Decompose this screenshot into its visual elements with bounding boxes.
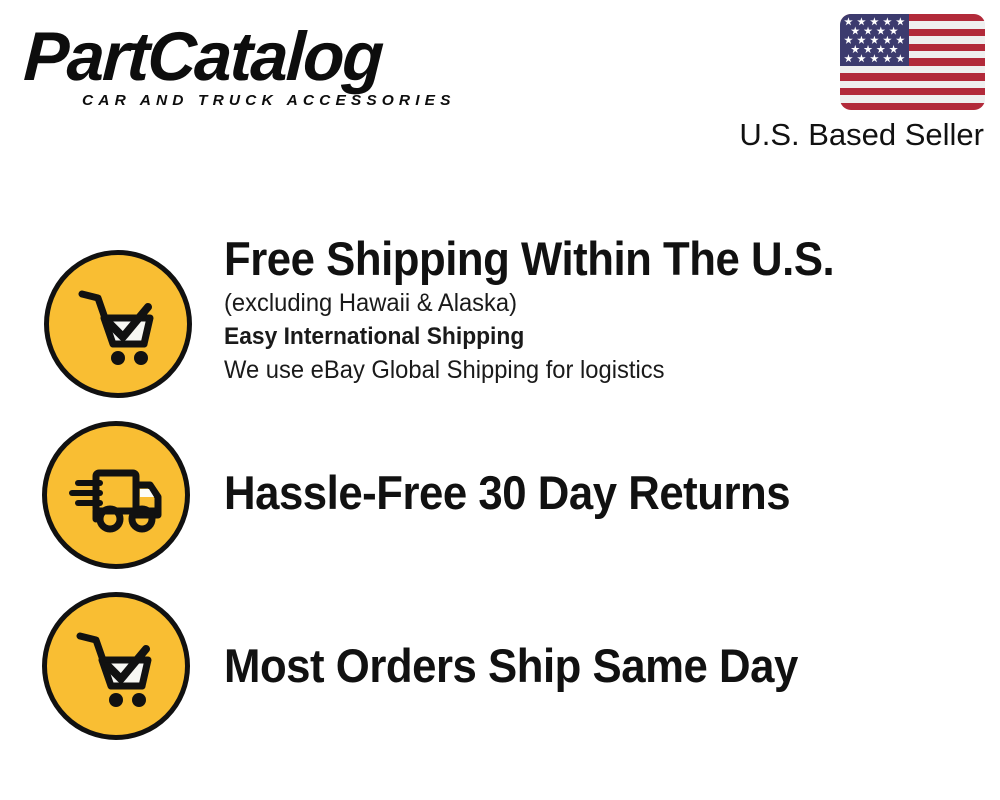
benefit-subline: (excluding Hawaii & Alaska) <box>224 286 847 320</box>
benefit-text-block: Free Shipping Within The U.S. (excluding… <box>224 232 880 387</box>
benefits-list: Free Shipping Within The U.S. (excluding… <box>0 0 1000 800</box>
delivery-truck-icon <box>42 421 190 569</box>
benefit-headline: Hassle-Free 30 Day Returns <box>224 466 790 520</box>
promo-banner: PartCatalog CAR AND TRUCK ACCESSORIES <box>0 0 1000 800</box>
shopping-cart-check-icon <box>42 592 190 740</box>
shopping-cart-check-icon <box>44 250 192 398</box>
benefit-headline: Most Orders Ship Same Day <box>224 639 798 693</box>
benefit-subline: We use eBay Global Shipping for logistic… <box>224 353 847 387</box>
benefit-headline: Free Shipping Within The U.S. <box>224 232 834 286</box>
benefit-text-block: Most Orders Ship Same Day <box>224 639 841 693</box>
benefit-text-block: Hassle-Free 30 Day Returns <box>224 466 833 520</box>
benefit-subline: Easy International Shipping <box>224 320 847 353</box>
